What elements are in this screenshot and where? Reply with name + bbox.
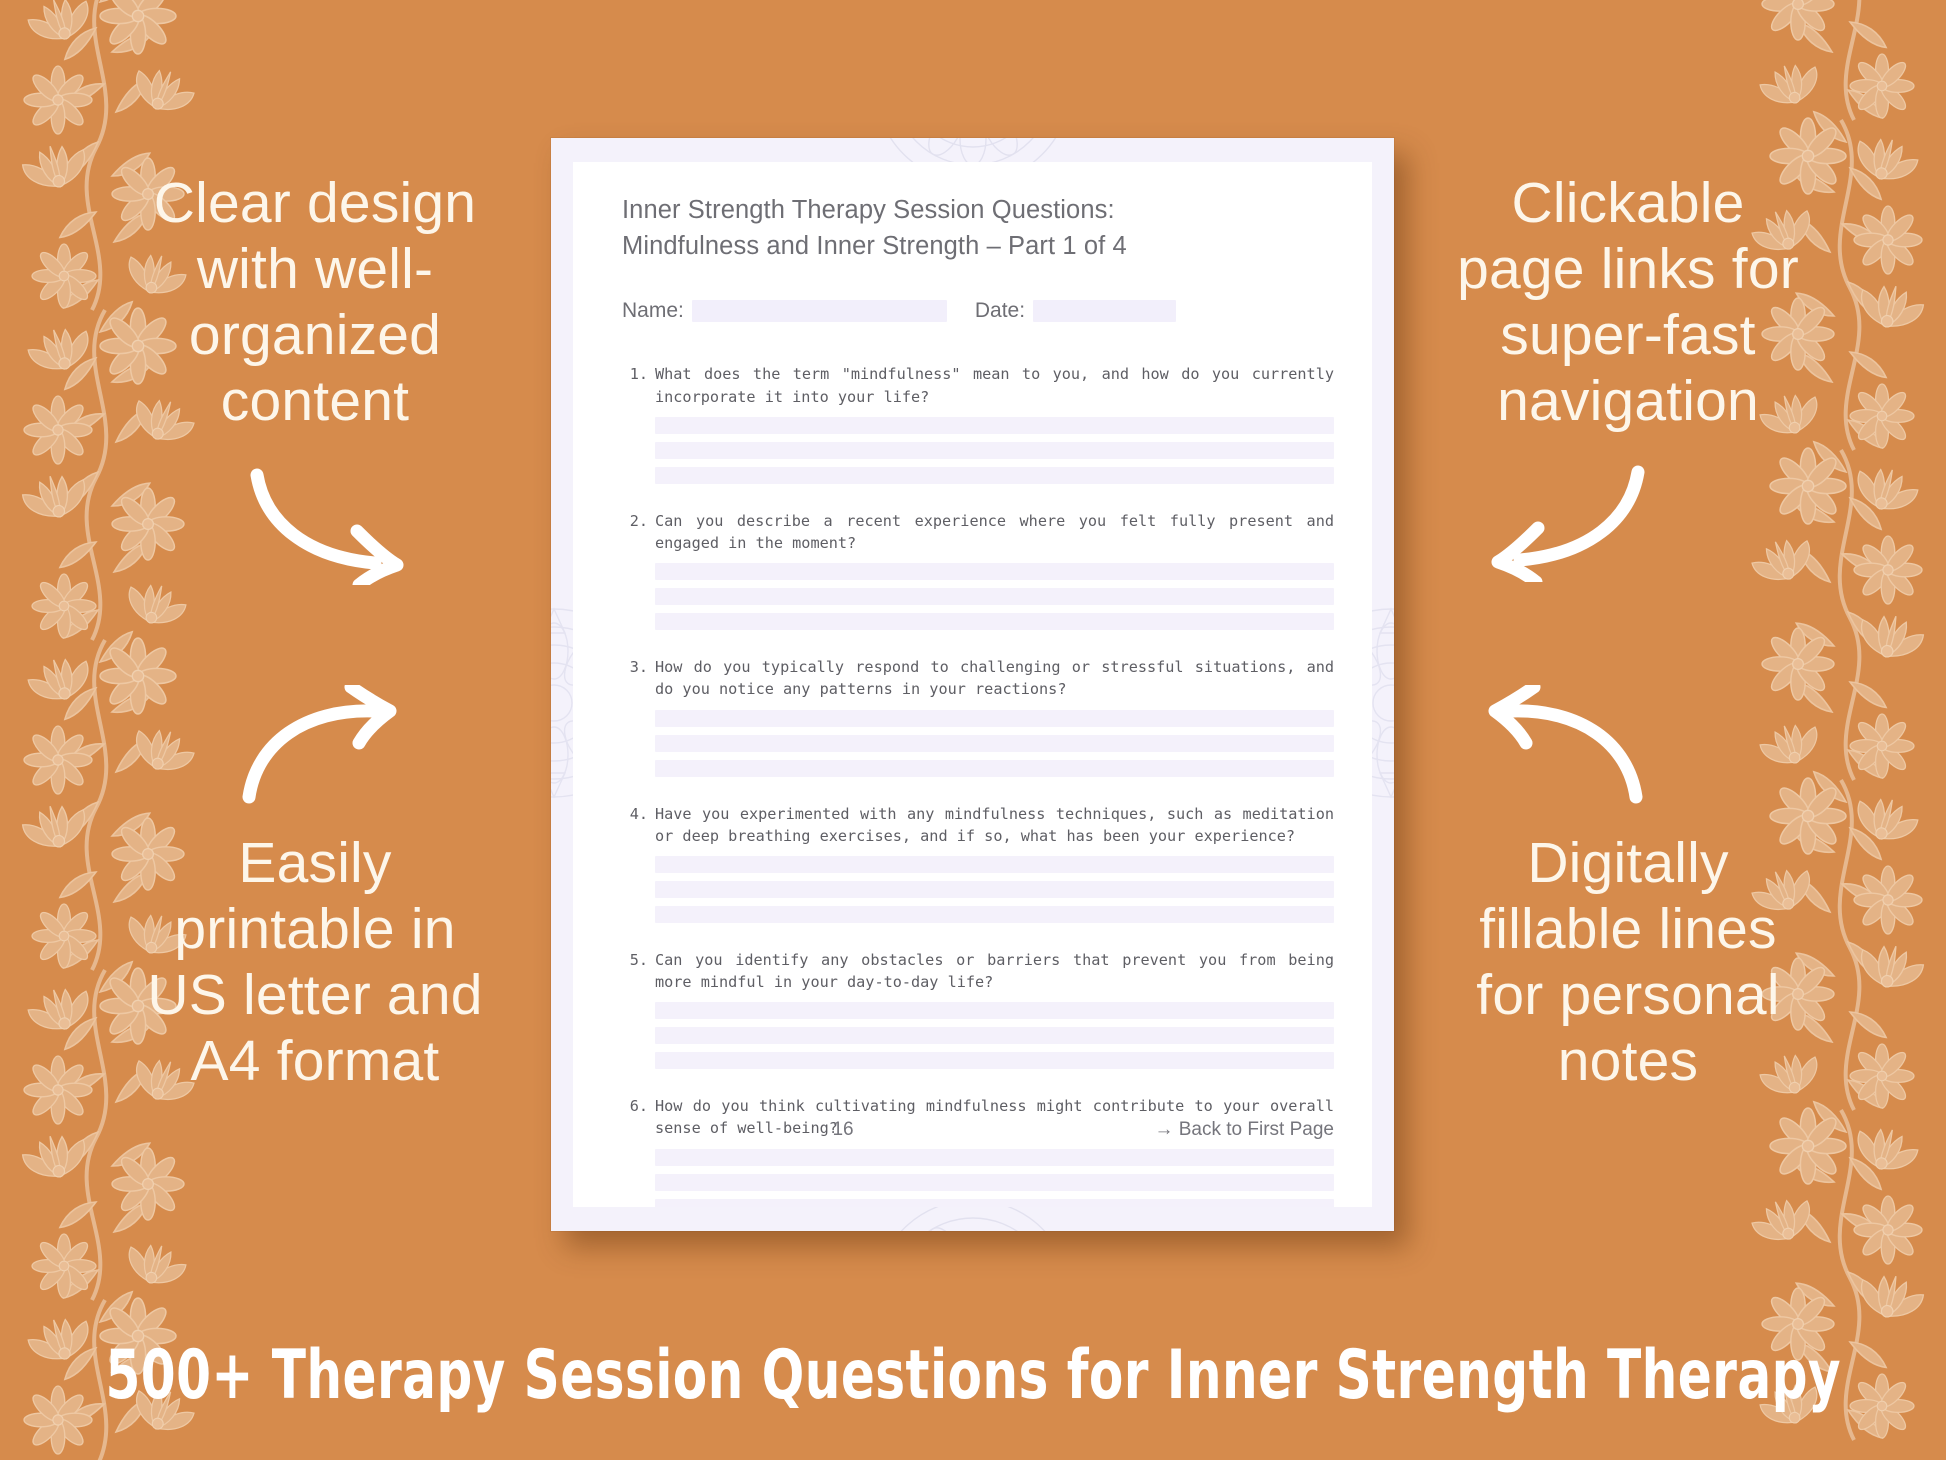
answer-line[interactable] xyxy=(655,563,1334,580)
question-number: 1. xyxy=(622,363,655,407)
question-number: 3. xyxy=(622,656,655,700)
answer-lines xyxy=(655,417,1334,484)
document-page[interactable]: Inner Strength Therapy Session Questions… xyxy=(551,138,1394,1231)
answer-line[interactable] xyxy=(655,442,1334,459)
question-row: 5.Can you identify any obstacles or barr… xyxy=(622,949,1334,993)
question-text: Have you experimented with any mindfulne… xyxy=(655,803,1334,847)
answer-line[interactable] xyxy=(655,613,1334,630)
arrow-bottom-right-icon xyxy=(1475,685,1650,810)
page-content-area: Inner Strength Therapy Session Questions… xyxy=(573,162,1372,1207)
feature-text-easily-printable: Easily printable in US letter and A4 for… xyxy=(120,830,510,1094)
question-text: Can you identify any obstacles or barrie… xyxy=(655,949,1334,993)
answer-lines xyxy=(655,1002,1334,1069)
question-item: 5.Can you identify any obstacles or barr… xyxy=(622,949,1334,1069)
question-list: 1.What does the term "mindfulness" mean … xyxy=(622,363,1334,1207)
answer-line[interactable] xyxy=(655,417,1334,434)
question-item: 2.Can you describe a recent experience w… xyxy=(622,510,1334,630)
answer-line[interactable] xyxy=(655,1002,1334,1019)
answer-line[interactable] xyxy=(655,735,1334,752)
answer-line[interactable] xyxy=(655,1199,1334,1207)
question-text: What does the term "mindfulness" mean to… xyxy=(655,363,1334,407)
arrow-top-left-icon xyxy=(245,465,420,590)
question-row: 1.What does the term "mindfulness" mean … xyxy=(622,363,1334,407)
question-number: 4. xyxy=(622,803,655,847)
answer-line[interactable] xyxy=(655,467,1334,484)
date-label: Date: xyxy=(975,299,1025,323)
answer-line[interactable] xyxy=(655,906,1334,923)
answer-line[interactable] xyxy=(655,710,1334,727)
question-row: 2.Can you describe a recent experience w… xyxy=(622,510,1334,554)
answer-line[interactable] xyxy=(655,588,1334,605)
feature-text-clickable-links: Clickable page links for super-fast navi… xyxy=(1428,170,1828,434)
back-to-first-page-link[interactable]: → Back to First Page xyxy=(1154,1119,1334,1141)
document-footer: 16 → Back to First Page xyxy=(622,1119,1334,1141)
answer-line[interactable] xyxy=(655,1174,1334,1191)
question-item: 6.How do you think cultivating mindfulne… xyxy=(622,1095,1334,1207)
question-text: Can you describe a recent experience whe… xyxy=(655,510,1334,554)
answer-line[interactable] xyxy=(655,1149,1334,1166)
question-number: 2. xyxy=(622,510,655,554)
document-title-line2: Mindfulness and Inner Strength – Part 1 … xyxy=(622,228,1334,264)
answer-lines xyxy=(655,1149,1334,1207)
answer-line[interactable] xyxy=(655,760,1334,777)
answer-lines xyxy=(655,563,1334,630)
answer-line[interactable] xyxy=(655,1052,1334,1069)
question-item: 4.Have you experimented with any mindful… xyxy=(622,803,1334,923)
question-item: 1.What does the term "mindfulness" mean … xyxy=(622,363,1334,483)
date-input[interactable] xyxy=(1033,300,1176,322)
answer-lines xyxy=(655,710,1334,777)
name-label: Name: xyxy=(622,299,684,323)
question-row: 4.Have you experimented with any mindful… xyxy=(622,803,1334,847)
answer-line[interactable] xyxy=(655,856,1334,873)
banner-title: 500+ Therapy Session Questions for Inner… xyxy=(105,1336,1841,1415)
arrow-top-right-icon xyxy=(1475,462,1650,587)
name-input[interactable] xyxy=(692,300,947,322)
feature-text-fillable-lines: Digitally fillable lines for personal no… xyxy=(1428,830,1828,1094)
arrow-bottom-left-icon xyxy=(235,685,410,810)
name-date-row: Name: Date: xyxy=(622,299,1334,323)
document-title: Inner Strength Therapy Session Questions… xyxy=(622,192,1334,264)
question-text: How do you typically respond to challeng… xyxy=(655,656,1334,700)
question-number: 5. xyxy=(622,949,655,993)
bottom-banner: 500+ Therapy Session Questions for Inner… xyxy=(0,1290,1946,1460)
answer-line[interactable] xyxy=(655,881,1334,898)
question-item: 3.How do you typically respond to challe… xyxy=(622,656,1334,776)
feature-text-clear-design: Clear design with well- organized conten… xyxy=(120,170,510,434)
answer-line[interactable] xyxy=(655,1027,1334,1044)
question-row: 3.How do you typically respond to challe… xyxy=(622,656,1334,700)
document-title-line1: Inner Strength Therapy Session Questions… xyxy=(622,196,1115,224)
page-number: 16 xyxy=(772,1119,853,1141)
answer-lines xyxy=(655,856,1334,923)
